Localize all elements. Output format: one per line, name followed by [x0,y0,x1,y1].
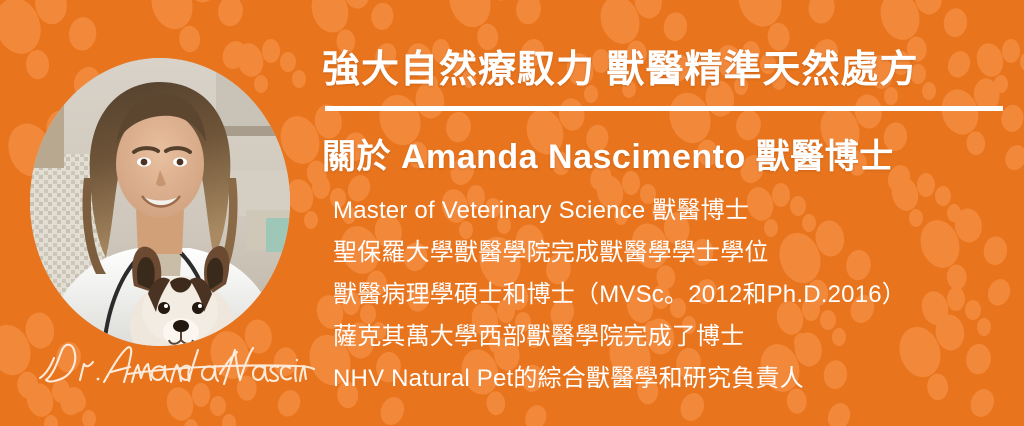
list-item: 聖保羅大學獸醫學院完成獸醫學學士學位 [333,232,1024,274]
section-heading: 關於 Amanda Nascimento 獸醫博士 [322,129,894,178]
bio-list: Master of Veterinary Science 獸醫博士 聖保羅大學獸… [333,190,1024,400]
list-item: 薩克其萬大學西部獸醫學院完成了博士 [333,316,1024,358]
list-item: 獸醫病理學碩士和博士（MVSc。2012和Ph.D.2016） [333,274,1024,316]
signature [28,334,318,396]
text-content: 強大自然療馭力 獸醫精準天然處方 關於 Amanda Nascimento 獸醫… [322,0,1024,426]
profile-photo [30,58,290,346]
divider [325,106,1003,111]
page-title: 強大自然療馭力 獸醫精準天然處方 [322,38,919,93]
list-item: NHV Natural Pet的綜合獸醫學和研究負責人 [333,358,1024,400]
list-item: Master of Veterinary Science 獸醫博士 [333,190,1024,232]
vet-profile-banner: 強大自然療馭力 獸醫精準天然處方 關於 Amanda Nascimento 獸醫… [0,0,1024,426]
